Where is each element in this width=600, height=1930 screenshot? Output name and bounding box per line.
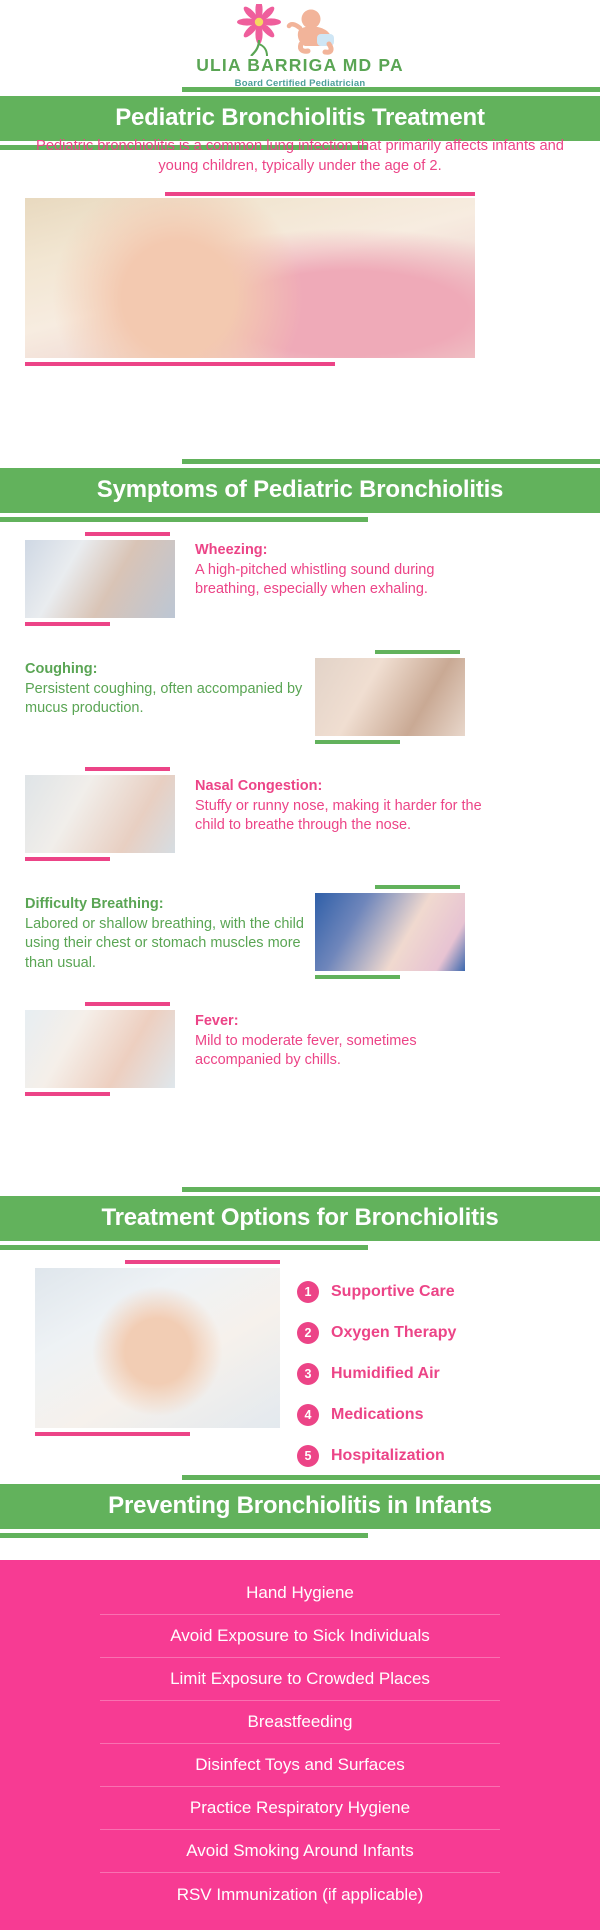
thumb-accent-pink [25,1092,110,1096]
prevention-item[interactable]: Practice Respiratory Hygiene [100,1787,500,1830]
symptom-photo-wheezing [25,540,175,618]
thumb-accent-green [315,740,400,744]
treatment-accent-pink [125,1260,280,1264]
symptom-title: Fever: [195,1012,495,1032]
prevention-item[interactable]: Limit Exposure to Crowded Places [100,1658,500,1701]
treatment-option-label: Oxygen Therapy [331,1324,456,1342]
daisy-flower-and-crawling-baby-icon [185,6,415,56]
symptom-block-nasal-congestion: Nasal Congestion: Stuffy or runny nose, … [195,777,500,836]
treatment-option-label: Supportive Care [331,1283,455,1301]
treatment-option-item[interactable]: 5 Hospitalization [297,1439,577,1472]
symptom-block-fever: Fever: Mild to moderate fever, sometimes… [195,1012,495,1071]
symptom-body: A high-pitched whistling sound during br… [195,561,495,600]
band-accent-top [182,87,600,92]
treatment-option-number: 2 [297,1322,319,1344]
band-accent-top [182,459,600,464]
symptom-block-coughing: Coughing: Persistent coughing, often acc… [25,660,310,719]
logo-practice-name: ULIA BARRIGA MD PA [196,57,404,75]
band-accent-top [182,1475,600,1480]
hero-photo [25,198,475,358]
treatment-option-number: 4 [297,1404,319,1426]
symptom-photo-coughing [315,658,465,736]
treatment-accent-pink-bottom [35,1432,190,1436]
prevention-item[interactable]: RSV Immunization (if applicable) [100,1873,500,1916]
thumb-accent-green [375,885,460,889]
symptom-title: Wheezing: [195,541,495,561]
symptoms-section-title: Symptoms of Pediatric Bronchiolitis [0,468,600,513]
treatment-title-band: Treatment Options for Bronchiolitis [0,1196,600,1241]
thumb-accent-green [315,975,400,979]
practice-logo: ULIA BARRIGA MD PA Board Certified Pedia… [0,6,600,86]
prevention-item[interactable]: Avoid Exposure to Sick Individuals [100,1615,500,1658]
symptom-body: Labored or shallow breathing, with the c… [25,915,315,974]
symptom-block-wheezing: Wheezing: A high-pitched whistling sound… [195,541,495,600]
treatment-option-number: 3 [297,1363,319,1385]
treatment-option-item[interactable]: 3 Humidified Air [297,1357,577,1390]
treatment-option-number: 5 [297,1445,319,1467]
treatment-option-label: Hospitalization [331,1447,445,1465]
symptom-title: Coughing: [25,660,310,680]
prevention-item[interactable]: Hand Hygiene [100,1572,500,1615]
symptom-body: Persistent coughing, often accompanied b… [25,680,310,719]
treatment-option-item[interactable]: 1 Supportive Care [297,1275,577,1308]
treatment-photo [35,1268,280,1428]
infographic-page: ULIA BARRIGA MD PA Board Certified Pedia… [0,0,600,1930]
symptom-photo-difficulty-breathing [315,893,465,971]
treatment-option-label: Medications [331,1406,423,1424]
symptom-block-difficulty-breathing: Difficulty Breathing: Labored or shallow… [25,895,315,974]
symptom-title: Difficulty Breathing: [25,895,315,915]
treatment-option-number: 1 [297,1281,319,1303]
symptom-photo-nasal-congestion [25,775,175,853]
main-title-band: Pediatric Bronchiolitis Treatment [0,96,600,141]
prevention-title-band: Preventing Bronchiolitis in Infants [0,1484,600,1529]
hero-accent-top [165,192,475,196]
thumb-accent-pink [85,1002,170,1006]
symptoms-title-band: Symptoms of Pediatric Bronchiolitis [0,468,600,513]
prevention-item[interactable]: Avoid Smoking Around Infants [100,1830,500,1873]
treatment-option-item[interactable]: 4 Medications [297,1398,577,1431]
band-accent-bottom [0,1245,368,1250]
symptom-title: Nasal Congestion: [195,777,500,797]
thumb-accent-pink [25,857,110,861]
thumb-accent-pink [85,767,170,771]
symptom-body: Mild to moderate fever, sometimes accomp… [195,1032,495,1071]
treatment-options-list: 1 Supportive Care 2 Oxygen Therapy 3 Hum… [297,1275,577,1480]
treatment-section-title: Treatment Options for Bronchiolitis [0,1196,600,1241]
treatment-option-item[interactable]: 2 Oxygen Therapy [297,1316,577,1349]
thumb-accent-pink [85,532,170,536]
thumb-accent-pink [25,622,110,626]
hero-accent-bottom [25,362,335,366]
prevention-section-title: Preventing Bronchiolitis in Infants [0,1484,600,1529]
prevention-item[interactable]: Disinfect Toys and Surfaces [100,1744,500,1787]
intro-paragraph: Pediatric bronchiolitis is a common lung… [30,136,570,177]
symptom-body: Stuffy or runny nose, making it harder f… [195,797,500,836]
prevention-list: Hand Hygiene Avoid Exposure to Sick Indi… [0,1560,600,1930]
band-accent-bottom [0,1533,368,1538]
page-title: Pediatric Bronchiolitis Treatment [0,96,600,141]
symptom-photo-fever [25,1010,175,1088]
thumb-accent-green [375,650,460,654]
band-accent-bottom [0,517,368,522]
prevention-item[interactable]: Breastfeeding [100,1701,500,1744]
band-accent-top [182,1187,600,1192]
treatment-option-label: Humidified Air [331,1365,440,1383]
